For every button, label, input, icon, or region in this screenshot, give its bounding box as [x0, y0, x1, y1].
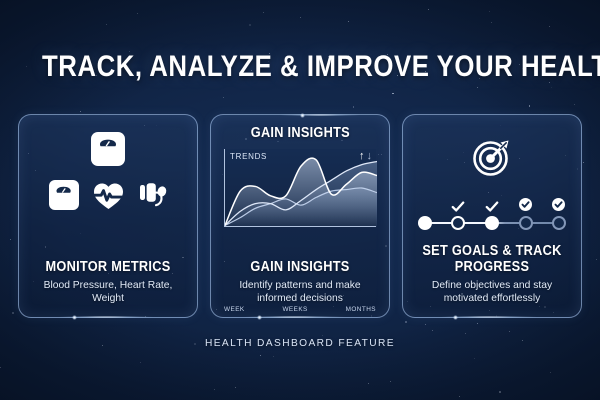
card-title: MONITOR METRICS: [37, 260, 180, 276]
axis-tick-label: WEEK: [224, 306, 245, 313]
monitor-metrics-icons: [49, 132, 168, 210]
card-subtitle: Define objectives and stay motivated eff…: [411, 279, 573, 305]
card-set-goals[interactable]: SET GOALS & TRACK PROGRESS Define object…: [402, 114, 582, 318]
scale-icon: [91, 132, 125, 171]
target-icon: [470, 135, 514, 184]
axis-tick-label: MONTHS: [346, 306, 376, 313]
progress-node[interactable]: [451, 216, 465, 230]
goal-progress-track[interactable]: [418, 198, 566, 230]
blood-pressure-cuff-icon: [138, 180, 168, 210]
card-title: SET GOALS & TRACK PROGRESS: [421, 244, 564, 275]
progress-node[interactable]: [519, 216, 533, 230]
page-title: TRACK, ANALYZE & IMPROVE YOUR HEALTH: [42, 50, 558, 84]
scale-icon: [49, 180, 79, 210]
check-circle-icon: [519, 198, 532, 211]
metric-icon-row: [49, 180, 168, 210]
trends-chart[interactable]: TRENDS ↑ ↓: [224, 149, 376, 227]
card-subtitle: Identify patterns and make informed deci…: [219, 279, 381, 305]
feature-cards-row: MONITOR METRICS Blood Pressure, Heart Ra…: [18, 114, 582, 318]
card-gain-insights[interactable]: GAIN INSIGHTS TRENDS ↑ ↓ WEEK WEEKS MONT…: [210, 114, 390, 318]
progress-node[interactable]: [418, 216, 432, 230]
axis-tick-label: WEEKS: [282, 306, 307, 313]
heart-pulse-icon: [92, 180, 125, 210]
progress-node[interactable]: [552, 216, 566, 230]
card-heading: GAIN INSIGHTS: [250, 126, 349, 142]
check-icon: [485, 200, 499, 218]
footer-caption: HEALTH DASHBOARD FEATURE: [0, 338, 600, 349]
card-monitor-metrics[interactable]: MONITOR METRICS Blood Pressure, Heart Ra…: [18, 114, 198, 318]
chart-axis-labels: WEEK WEEKS MONTHS: [224, 306, 376, 313]
card-title: GAIN INSIGHTS: [229, 260, 372, 276]
check-circle-icon: [552, 198, 565, 211]
chart-plot-area: [225, 149, 377, 227]
progress-node[interactable]: [485, 216, 499, 230]
check-icon: [451, 200, 465, 218]
card-subtitle: Blood Pressure, Heart Rate, Weight: [27, 279, 189, 305]
